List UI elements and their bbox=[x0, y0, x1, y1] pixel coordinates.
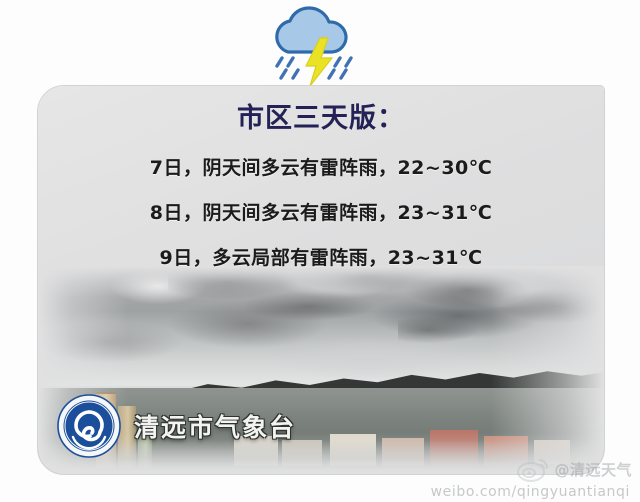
forecast-line-day3: 9日，多云局部有雷阵雨，23~31℃ bbox=[38, 236, 604, 281]
forecast-line-day1: 7日，阴天间多云有雷阵雨，22~30℃ bbox=[38, 146, 604, 191]
station-name-label: 清远市气象台 bbox=[134, 408, 296, 444]
page-title: 市区三天版： bbox=[38, 102, 604, 136]
forecast-text-block: 市区三天版： 7日，阴天间多云有雷阵雨，22~30℃ 8日，阴天间多云有雷阵雨，… bbox=[38, 102, 604, 281]
weibo-eye-icon bbox=[516, 456, 550, 482]
weibo-handle-label: @清远天气 bbox=[554, 459, 632, 480]
forecast-line-day2: 8日，阴天间多云有雷阵雨，23~31℃ bbox=[38, 191, 604, 236]
cma-logo-icon bbox=[56, 393, 122, 459]
forecast-card: 市区三天版： 7日，阴天间多云有雷阵雨，22~30℃ 8日，阴天间多云有雷阵雨，… bbox=[38, 86, 604, 474]
thunderstorm-icon bbox=[258, 4, 378, 86]
station-branding: 清远市气象台 bbox=[56, 392, 296, 460]
weibo-url-label: weibo.com/qingyuantianqi bbox=[431, 484, 630, 500]
weibo-watermark: @清远天气 bbox=[516, 456, 632, 482]
header-icon-band bbox=[0, 0, 640, 86]
